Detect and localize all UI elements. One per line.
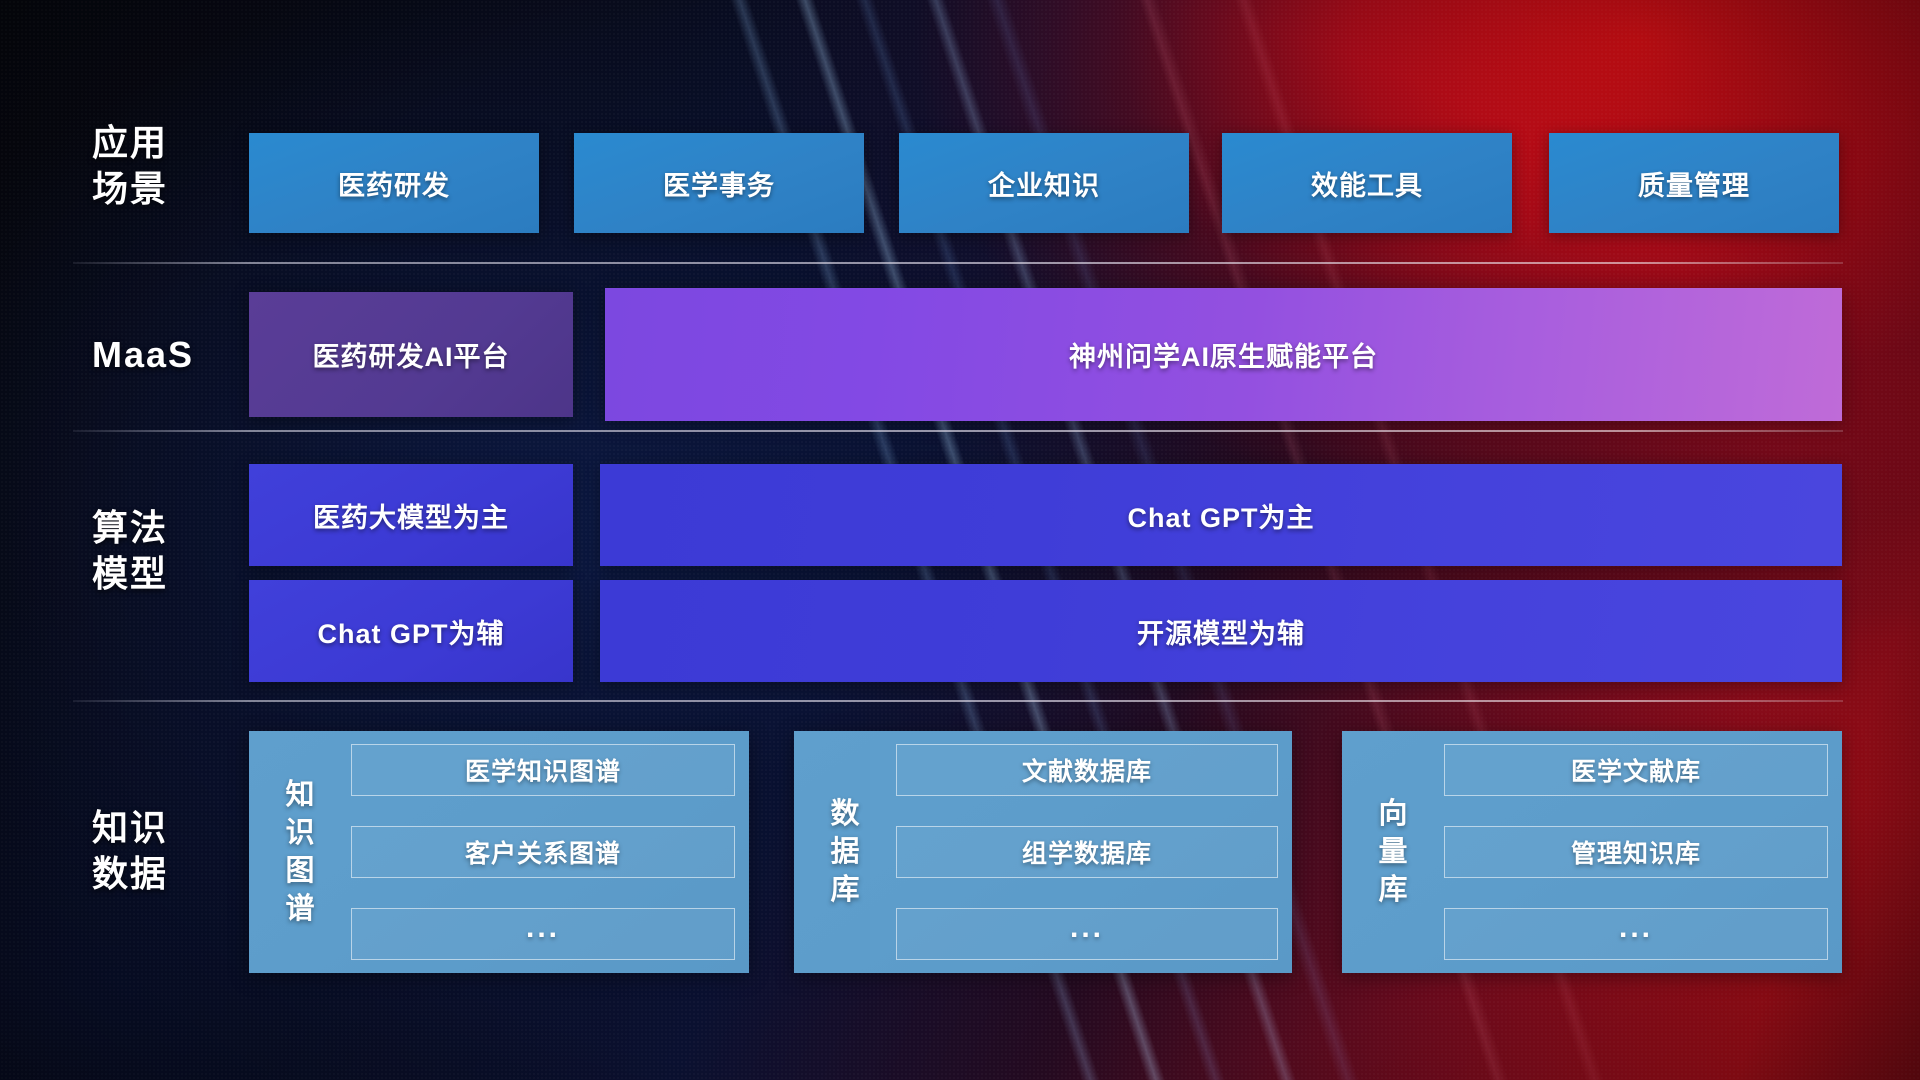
- knowledge-group-3-items: 医学文献库 管理知识库 ...: [1430, 744, 1828, 960]
- vertical-label-char: 知: [285, 776, 314, 814]
- diagram-stage: 应用 场景 医药研发 医学事务 企业知识 效能工具 质量管理 MaaS 医药研发…: [0, 0, 1920, 1080]
- vertical-label-char: 数: [830, 795, 859, 833]
- algo-left-box-1[interactable]: 医药大模型为主: [249, 464, 573, 566]
- app-box-2[interactable]: 医学事务: [574, 133, 864, 233]
- row-label-algorithm-models: 算法 模型: [92, 505, 242, 597]
- knowledge-group-1-items: 医学知识图谱 客户关系图谱 ...: [337, 744, 735, 960]
- vertical-label-char: 谱: [285, 890, 314, 928]
- algo-left-box-2[interactable]: Chat GPT为辅: [249, 580, 573, 682]
- knowledge-item-1-2[interactable]: 客户关系图谱: [351, 826, 735, 878]
- algo-right-box-1[interactable]: Chat GPT为主: [600, 464, 1842, 566]
- knowledge-item-2-2[interactable]: 组学数据库: [896, 826, 1278, 878]
- knowledge-group-3-vertical-label: 向量库: [1356, 744, 1430, 960]
- knowledge-group-database[interactable]: 数据库 文献数据库 组学数据库 ...: [794, 731, 1292, 973]
- knowledge-group-2-items: 文献数据库 组学数据库 ...: [882, 744, 1278, 960]
- app-box-3[interactable]: 企业知识: [899, 133, 1189, 233]
- knowledge-item-1-1[interactable]: 医学知识图谱: [351, 744, 735, 796]
- maas-enablement-platform-box[interactable]: 神州问学AI原生赋能平台: [605, 288, 1842, 421]
- knowledge-group-knowledge-graph[interactable]: 知识图谱 医学知识图谱 客户关系图谱 ...: [249, 731, 749, 973]
- knowledge-item-3-1[interactable]: 医学文献库: [1444, 744, 1828, 796]
- knowledge-item-3-3[interactable]: ...: [1444, 908, 1828, 960]
- knowledge-item-1-3[interactable]: ...: [351, 908, 735, 960]
- app-box-1[interactable]: 医药研发: [249, 133, 539, 233]
- knowledge-item-3-2[interactable]: 管理知识库: [1444, 826, 1828, 878]
- knowledge-item-2-1[interactable]: 文献数据库: [896, 744, 1278, 796]
- vertical-label-char: 库: [830, 871, 859, 909]
- app-box-5[interactable]: 质量管理: [1549, 133, 1839, 233]
- vertical-label-char: 据: [830, 833, 859, 871]
- vertical-label-char: 识: [285, 814, 314, 852]
- knowledge-group-2-vertical-label: 数据库: [808, 744, 882, 960]
- knowledge-group-1-vertical-label: 知识图谱: [263, 744, 337, 960]
- row-label-maas: MaaS: [92, 332, 242, 378]
- algo-right-box-2[interactable]: 开源模型为辅: [600, 580, 1842, 682]
- knowledge-group-vector-store[interactable]: 向量库 医学文献库 管理知识库 ...: [1342, 731, 1842, 973]
- row-label-application-scenarios: 应用 场景: [92, 120, 242, 212]
- vertical-label-char: 库: [1378, 871, 1407, 909]
- row-label-knowledge-data: 知识 数据: [92, 805, 242, 897]
- vertical-label-char: 向: [1378, 795, 1407, 833]
- knowledge-item-2-3[interactable]: ...: [896, 908, 1278, 960]
- app-box-4[interactable]: 效能工具: [1222, 133, 1512, 233]
- vertical-label-char: 图: [285, 852, 314, 890]
- maas-platform-box[interactable]: 医药研发AI平台: [249, 292, 573, 417]
- vertical-label-char: 量: [1378, 833, 1407, 871]
